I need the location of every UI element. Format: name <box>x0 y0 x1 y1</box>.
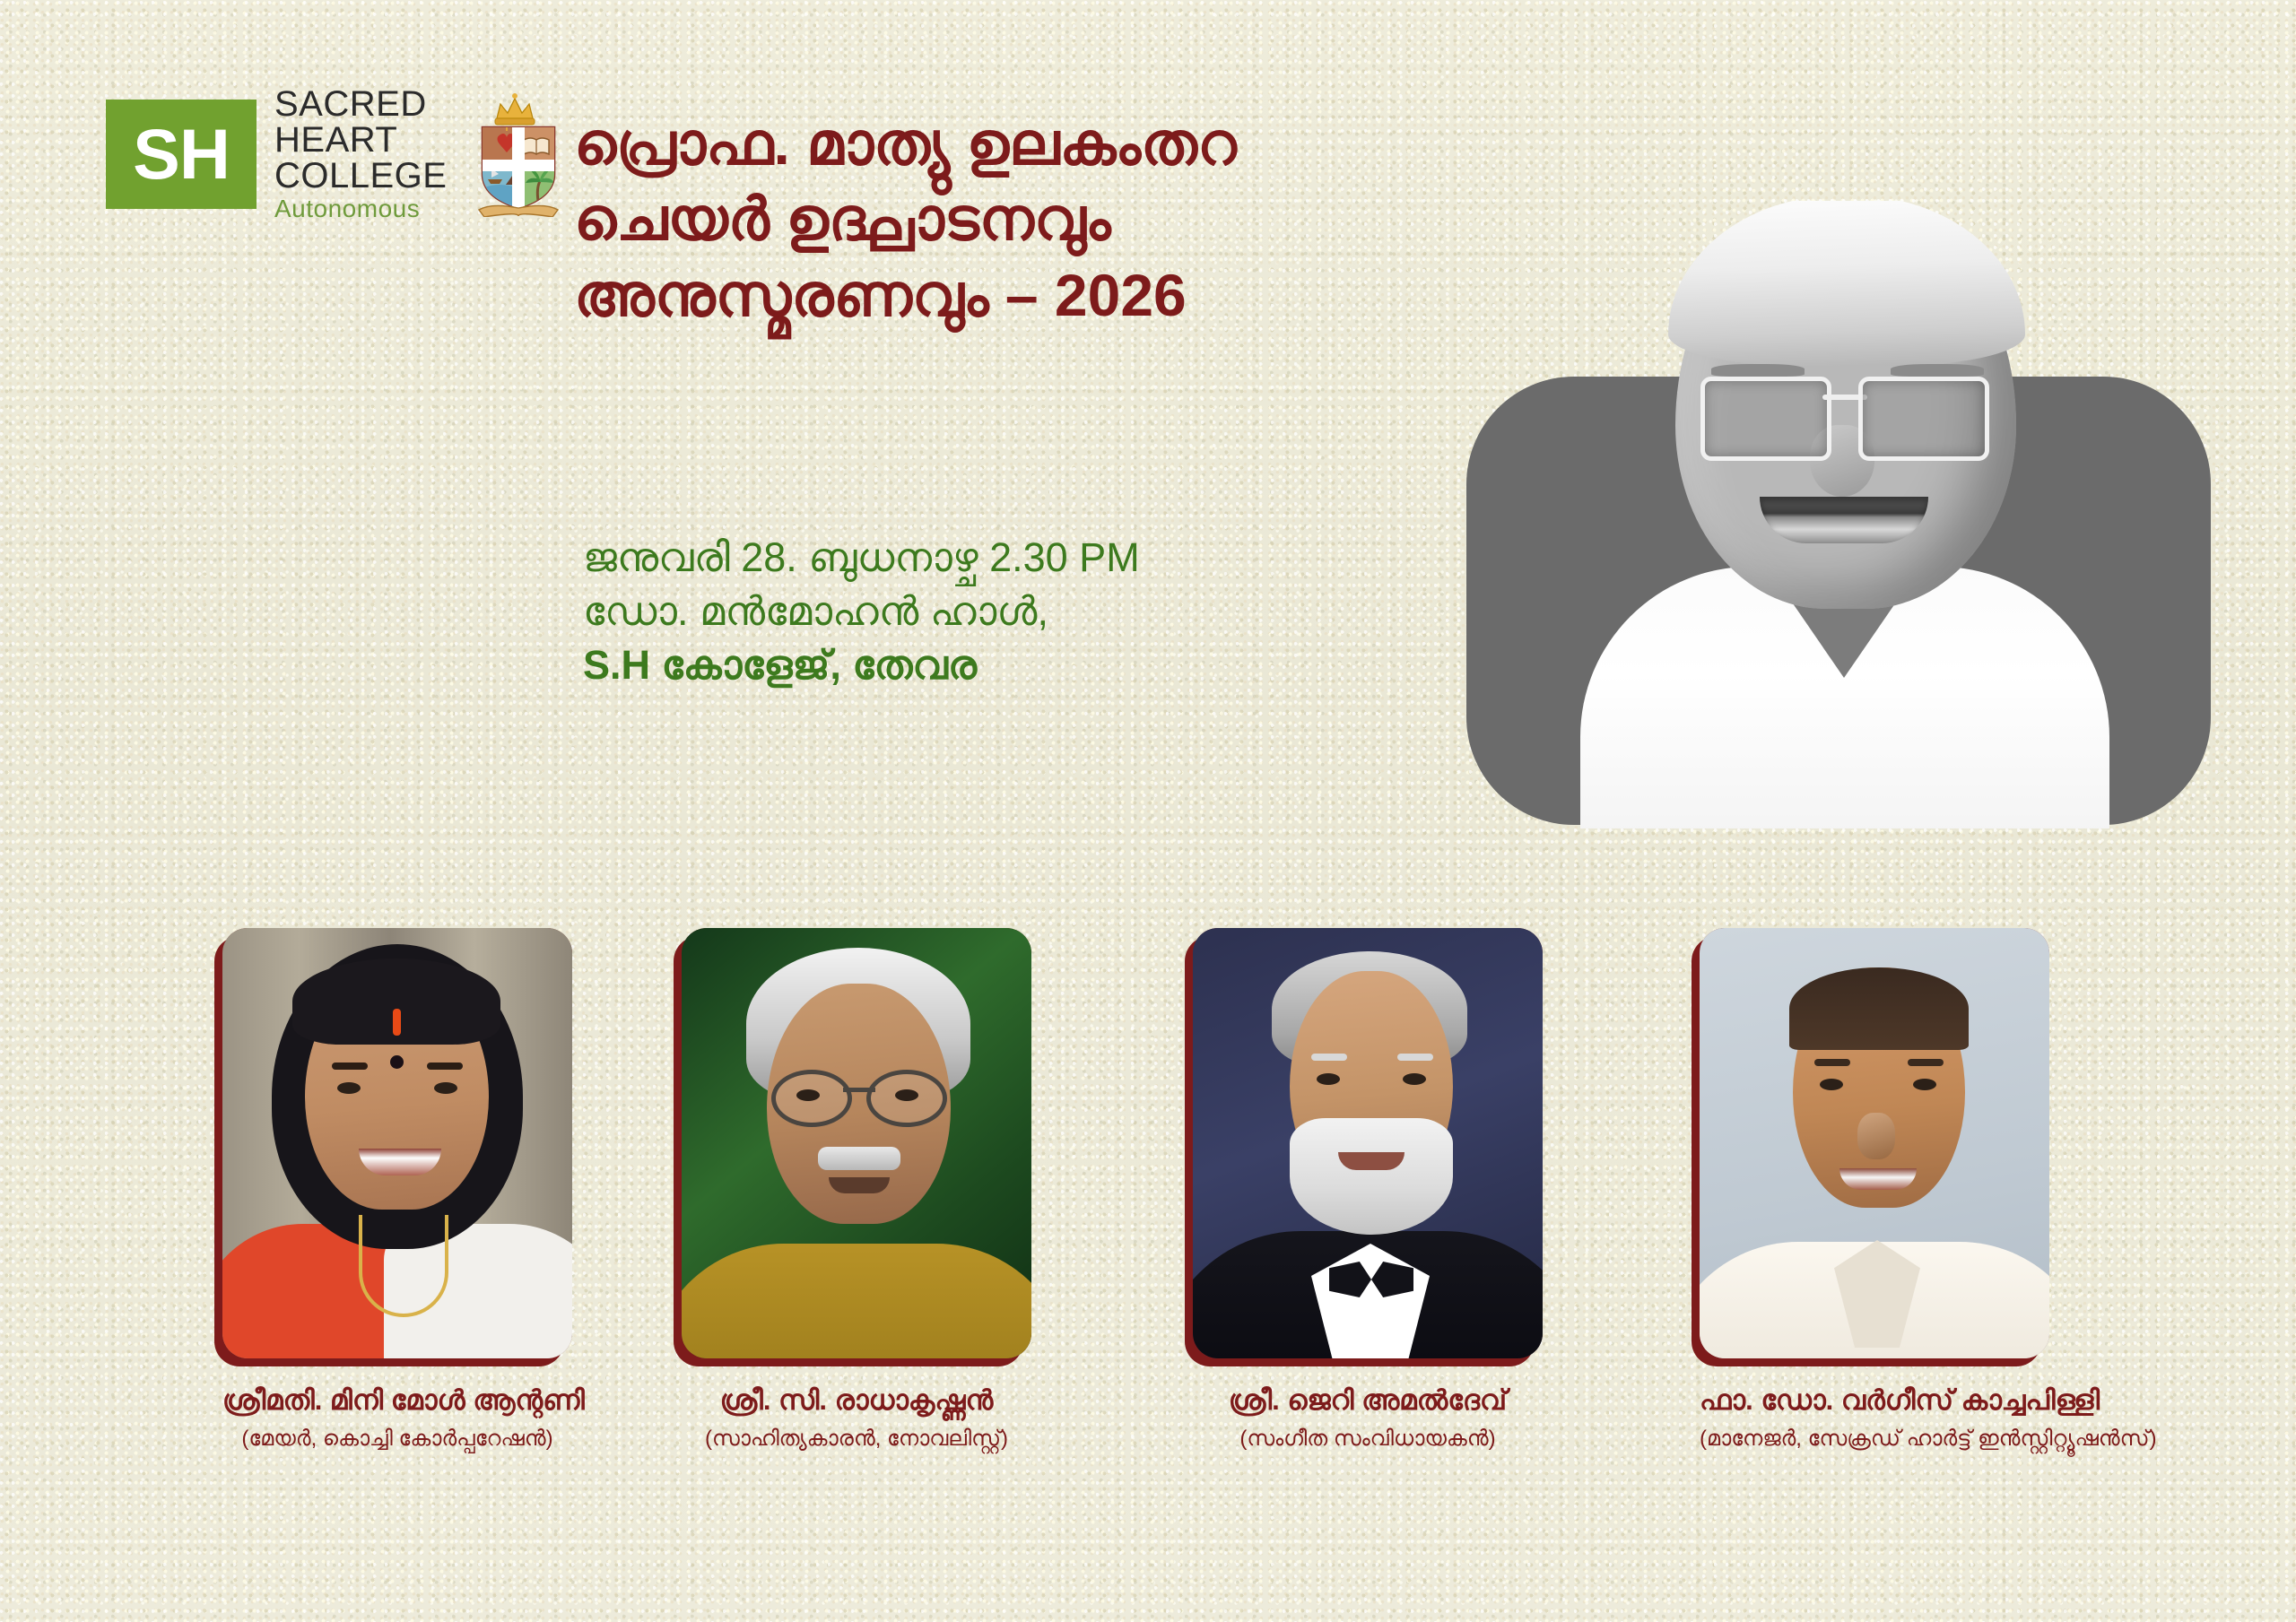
speaker-photo-frame-1 <box>222 928 572 1358</box>
event-venue-college: S.H കോളേജ്, തേവര <box>583 638 1390 692</box>
speaker-role-4: (മാനേജർ, സേക്രഡ് ഹാർട്ട് ഇൻസ്റ്റിറ്റ്യൂഷ… <box>1700 1425 2049 1453</box>
hero-mouth <box>1760 497 1928 543</box>
event-venue-hall: ഡോ. മൻമോഹൻ ഹാൾ, <box>583 585 1390 638</box>
speaker-card-3: ശ്രീ. ജെറി അമൽദേവ് (സംഗീത സംവിധായകൻ) <box>1193 928 1543 1453</box>
photo-3-mouth <box>1338 1152 1405 1170</box>
hero-lens-left <box>1700 377 1831 461</box>
hero-brow-right <box>1891 364 1984 377</box>
photo-1-brow-right <box>427 1063 463 1070</box>
photo-3-eye-left <box>1317 1073 1340 1085</box>
speaker-role-3: (സംഗീത സംവിധായകൻ) <box>1193 1425 1543 1453</box>
photo-3-eye-right <box>1403 1073 1426 1085</box>
logo-subtitle-autonomous: Autonomous <box>274 196 447 221</box>
logo-line-college: COLLEGE <box>274 158 447 194</box>
speaker-photo-4 <box>1700 928 2049 1358</box>
speaker-name-2: ശ്രീ. സി. രാധാകൃഷ്ണൻ <box>682 1383 1031 1418</box>
speaker-photo-frame-4 <box>1700 928 2049 1358</box>
photo-1-sindoor <box>393 1009 401 1036</box>
photo-2-shirt <box>682 1244 1031 1358</box>
logo-line-heart: HEART <box>274 122 447 158</box>
photo-2-glasses-bridge <box>843 1088 875 1092</box>
speaker-caption-4: ഫാ. ഡോ. വർഗീസ് കാച്ചപിള്ളി (മാനേജർ, സേക്… <box>1700 1383 2049 1453</box>
event-details: ജനുവരി 28. ബുധനാഴ്ച 2.30 PM ഡോ. മൻമോഹൻ ഹ… <box>583 531 1390 692</box>
photo-4-smile <box>1839 1168 1917 1190</box>
speaker-card-4: ഫാ. ഡോ. വർഗീസ് കാച്ചപിള്ളി (മാനേജർ, സേക്… <box>1700 928 2049 1453</box>
photo-3-beard <box>1290 1118 1453 1235</box>
photo-1-necklace <box>359 1215 448 1317</box>
speaker-caption-3: ശ്രീ. ജെറി അമൽദേവ് (സംഗീത സംവിധായകൻ) <box>1193 1383 1543 1453</box>
event-date-time: ജനുവരി 28. ബുധനാഴ്ച 2.30 PM <box>583 531 1390 585</box>
hero-hair <box>1668 201 2025 366</box>
hero-lens-right <box>1858 377 1989 461</box>
photo-4-eye-right <box>1913 1079 1936 1090</box>
speaker-card-1: ശ്രീമതി. മിനി മോൾ ആന്റണി (മേയർ, കൊച്ചി ക… <box>222 928 572 1453</box>
speaker-photo-3 <box>1193 928 1543 1358</box>
photo-2-eye-right <box>895 1089 918 1101</box>
photo-3-brow-right <box>1397 1054 1433 1061</box>
hero-brow-left <box>1711 364 1805 377</box>
title-line-3: അനുസ്മരണവും – 2026 <box>574 257 1516 333</box>
hero-portrait-photo <box>1525 201 2152 828</box>
speaker-card-2: ശ്രീ. സി. രാധാകൃഷ്ണൻ (സാഹിത്യകാരൻ, നോവലി… <box>682 928 1031 1453</box>
speaker-name-1: ശ്രീമതി. മിനി മോൾ ആന്റണി <box>222 1383 572 1418</box>
photo-2-moustache <box>818 1147 900 1170</box>
photo-4-brow-right <box>1908 1059 1944 1066</box>
title-line-1: പ്രൊഫ. മാത്യു ഉലകംതറ <box>574 106 1516 181</box>
speaker-role-1: (മേയർ, കൊച്ചി കോർപ്പറേഷൻ) <box>222 1425 572 1453</box>
photo-4-hair <box>1789 967 1969 1050</box>
speaker-photo-frame-2 <box>682 928 1031 1358</box>
speaker-caption-2: ശ്രീ. സി. രാധാകൃഷ്ണൻ (സാഹിത്യകാരൻ, നോവലി… <box>682 1383 1031 1453</box>
page-title: പ്രൊഫ. മാത്യു ഉലകംതറ ചെയർ ഉദ്ഘാടനവും അനു… <box>574 106 1516 333</box>
speaker-name-4: ഫാ. ഡോ. വർഗീസ് കാച്ചപിള്ളി <box>1700 1383 2049 1418</box>
event-poster: SH SACRED HEART COLLEGE Autonomous <box>0 0 2296 1622</box>
photo-1-eye-left <box>337 1082 361 1094</box>
college-crest-icon <box>470 91 567 217</box>
speaker-photo-2 <box>682 928 1031 1358</box>
photo-2-eye-left <box>796 1089 820 1101</box>
hero-glasses-icon <box>1700 377 1989 455</box>
speaker-name-3: ശ്രീ. ജെറി അമൽദേവ് <box>1193 1383 1543 1418</box>
logo-line-sacred: SACRED <box>274 86 447 122</box>
title-line-2: ചെയർ ഉദ്ഘാടനവും <box>574 181 1516 256</box>
photo-4-brow-left <box>1814 1059 1850 1066</box>
speaker-caption-1: ശ്രീമതി. മിനി മോൾ ആന്റണി (മേയർ, കൊച്ചി ക… <box>222 1383 572 1453</box>
sh-monogram-icon: SH <box>106 100 257 209</box>
sh-monogram-text: SH <box>133 118 230 189</box>
photo-2-mouth <box>829 1177 890 1193</box>
photo-1-bindi <box>390 1055 404 1069</box>
speaker-photo-frame-3 <box>1193 928 1543 1358</box>
photo-4-eye-left <box>1820 1079 1843 1090</box>
speakers-row: ശ്രീമതി. മിനി മോൾ ആന്റണി (മേയർ, കൊച്ചി ക… <box>0 928 2296 1538</box>
speaker-photo-1 <box>222 928 572 1358</box>
speaker-role-2: (സാഹിത്യകാരൻ, നോവലിസ്റ്റ്) <box>682 1425 1031 1453</box>
photo-1-eye-right <box>434 1082 457 1094</box>
college-name: SACRED HEART COLLEGE Autonomous <box>274 86 447 221</box>
photo-1-brow-left <box>332 1063 368 1070</box>
photo-3-brow-left <box>1311 1054 1347 1061</box>
photo-4-nose <box>1857 1113 1895 1159</box>
college-logo: SH SACRED HEART COLLEGE Autonomous <box>106 86 567 221</box>
